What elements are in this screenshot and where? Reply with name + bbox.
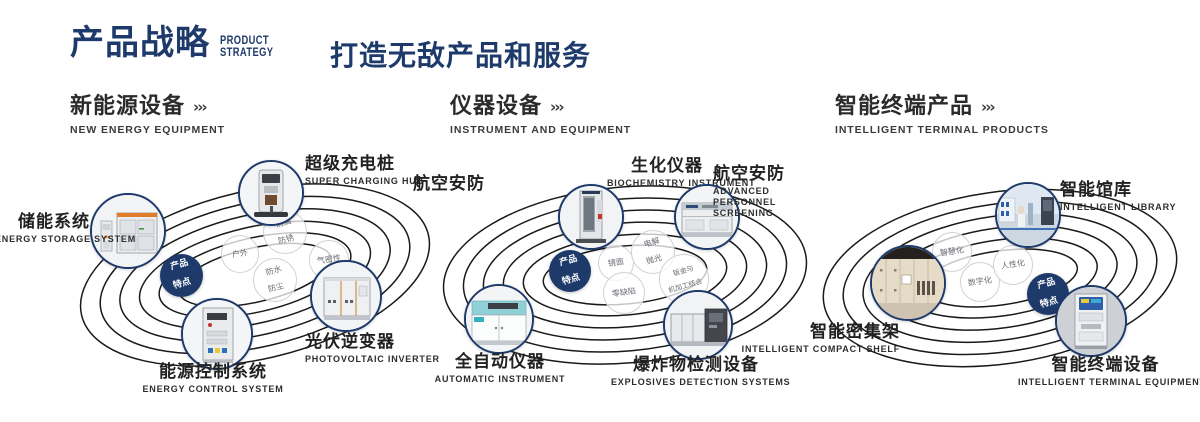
label-en: ENERGY STORAGE SYSTEM <box>0 234 90 245</box>
section-title-cn-text: 仪器设备 <box>450 94 542 120</box>
compact-shelf-photo <box>872 247 944 319</box>
node-super-charging-hub[interactable] <box>238 160 304 226</box>
header-title-en: PRODUCT STRATEGY <box>220 34 273 58</box>
automatic-analyzer-photo <box>466 286 532 352</box>
label-en: EXPLOSIVES DETECTION SYSTEMS <box>611 377 781 388</box>
label-cn: 智能密集架 <box>740 322 900 342</box>
node-intelligent-compact-shelf[interactable] <box>870 245 946 321</box>
label-cn: 生化仪器 <box>607 156 727 176</box>
charging-pile-photo <box>240 162 302 224</box>
feature-bubble-center: 产品特点 <box>549 250 591 292</box>
label-cn: 光伏逆变器 <box>305 332 440 352</box>
label-en: AUTOMATIC INSTRUMENT <box>420 374 580 385</box>
label-en: INTELLIGENT COMPACT SHELF <box>740 344 900 355</box>
section-title-en: NEW ENERGY EQUIPMENT <box>70 124 225 136</box>
label-cn: 全自动仪器 <box>420 352 580 372</box>
feature-bubble-waterproof: 防水防尘 <box>253 258 297 302</box>
chevron-right-icon: ››› <box>981 94 994 120</box>
feature-bubble-outdoor: 户外 <box>221 235 259 273</box>
node-explosives-detection[interactable] <box>663 290 733 360</box>
label-en: ENERGY CONTROL SYSTEM <box>88 384 338 395</box>
label-energy-storage-system: 储能系统 ENERGY STORAGE SYSTEM <box>0 212 90 245</box>
label-cn: 能源控制系统 <box>88 362 338 382</box>
cluster-intelligent-terminal: 智慧化 数字化 人性化 产品特点 <box>810 150 1200 400</box>
battery-cabinet-photo <box>92 195 164 267</box>
label-explosives-detection: 爆炸物检测设备 EXPLOSIVES DETECTION SYSTEMS <box>611 355 781 388</box>
label-energy-control-system: 能源控制系统 ENERGY CONTROL SYSTEM <box>88 362 338 395</box>
label-automatic-instrument: 全自动仪器 AUTOMATIC INSTRUMENT <box>420 352 580 385</box>
section-title-en: INSTRUMENT AND EQUIPMENT <box>450 124 631 136</box>
cluster-instrument: 产品特点 镜面 电解抛光 零缺陷 钣金与机加工结合 <box>425 150 825 400</box>
self-service-kiosk-photo <box>1057 287 1125 355</box>
label-intelligent-terminal-equipment: 智能终端设备 INTELLIGENT TERMINAL EQUIPMENT <box>1018 355 1193 388</box>
header-title-cn: 产品战略 <box>70 26 210 60</box>
label-cn: 航空安防 <box>413 174 485 194</box>
label-en: INTELLIGENT LIBRARY <box>1060 202 1176 213</box>
label-en: SUPER CHARGING HUB <box>305 176 424 187</box>
section-title-instrument: 仪器设备 ››› INSTRUMENT AND EQUIPMENT <box>450 94 631 136</box>
feature-bubble-center: 产品特点 <box>160 254 203 297</box>
section-title-cn: 新能源设备 ››› <box>70 94 225 120</box>
poster-header: 产品战略 PRODUCT STRATEGY <box>70 26 288 60</box>
library-interior-photo <box>997 184 1059 246</box>
section-title-cn: 智能终端产品 ››› <box>835 94 1049 120</box>
explosives-detector-photo <box>665 292 731 358</box>
node-energy-control-system[interactable] <box>181 298 253 370</box>
chevron-right-icon: ››› <box>550 94 563 120</box>
header-slogan: 打造无敌产品和服务 <box>330 34 591 74</box>
label-intelligent-library: 智能馆库 INTELLIGENT LIBRARY <box>1060 180 1176 213</box>
label-cn: 智能终端设备 <box>1018 355 1193 375</box>
section-title-cn-text: 新能源设备 <box>70 94 185 120</box>
section-title-en: INTELLIGENT TERMINAL PRODUCTS <box>835 124 1049 136</box>
label-en: INTELLIGENT TERMINAL EQUIPMENT <box>1018 377 1193 388</box>
label-cn: 航空安防 <box>713 164 823 184</box>
label-en: ADVANCED PERSONNEL SCREENING <box>713 186 823 219</box>
label-intelligent-compact-shelf: 智能密集架 INTELLIGENT COMPACT SHELF <box>740 322 900 355</box>
section-title-cn-text: 智能终端产品 <box>835 94 973 120</box>
node-energy-storage-system[interactable] <box>90 193 166 269</box>
inverter-cabinet-photo <box>312 262 380 330</box>
biochemistry-scanner-photo <box>560 186 622 248</box>
label-cn: 智能馆库 <box>1060 180 1176 200</box>
label-cn: 爆炸物检测设备 <box>611 355 781 375</box>
cluster-new-energy: 产品特点 户外 防腐防锈 防水防尘 气密性 <box>55 150 455 400</box>
chevron-right-icon: ››› <box>193 94 206 120</box>
label-aviation-security-extra: 航空安防 <box>413 174 485 194</box>
feature-bubble-zero-defect: 零缺陷 <box>603 272 645 314</box>
label-super-charging-hub: 超级充电桩 SUPER CHARGING HUB <box>305 154 424 187</box>
label-cn: 超级充电桩 <box>305 154 424 174</box>
section-title-cn: 仪器设备 ››› <box>450 94 631 120</box>
control-cabinet-photo <box>183 300 251 368</box>
poster-canvas: 产品战略 PRODUCT STRATEGY 打造无敌产品和服务 新能源设备 ››… <box>0 0 1200 422</box>
node-biochemistry-instrument[interactable] <box>558 184 624 250</box>
feature-bubble-humanized: 人性化 <box>993 245 1033 285</box>
node-intelligent-terminal-equipment[interactable] <box>1055 285 1127 357</box>
node-intelligent-library[interactable] <box>995 182 1061 248</box>
section-title-new-energy: 新能源设备 ››› NEW ENERGY EQUIPMENT <box>70 94 225 136</box>
label-advanced-personnel-screening: 航空安防 ADVANCED PERSONNEL SCREENING <box>713 164 823 219</box>
label-cn: 储能系统 <box>0 212 90 232</box>
section-title-intelligent-terminal: 智能终端产品 ››› INTELLIGENT TERMINAL PRODUCTS <box>835 94 1049 136</box>
node-photovoltaic-inverter[interactable] <box>310 260 382 332</box>
node-automatic-instrument[interactable] <box>464 284 534 354</box>
